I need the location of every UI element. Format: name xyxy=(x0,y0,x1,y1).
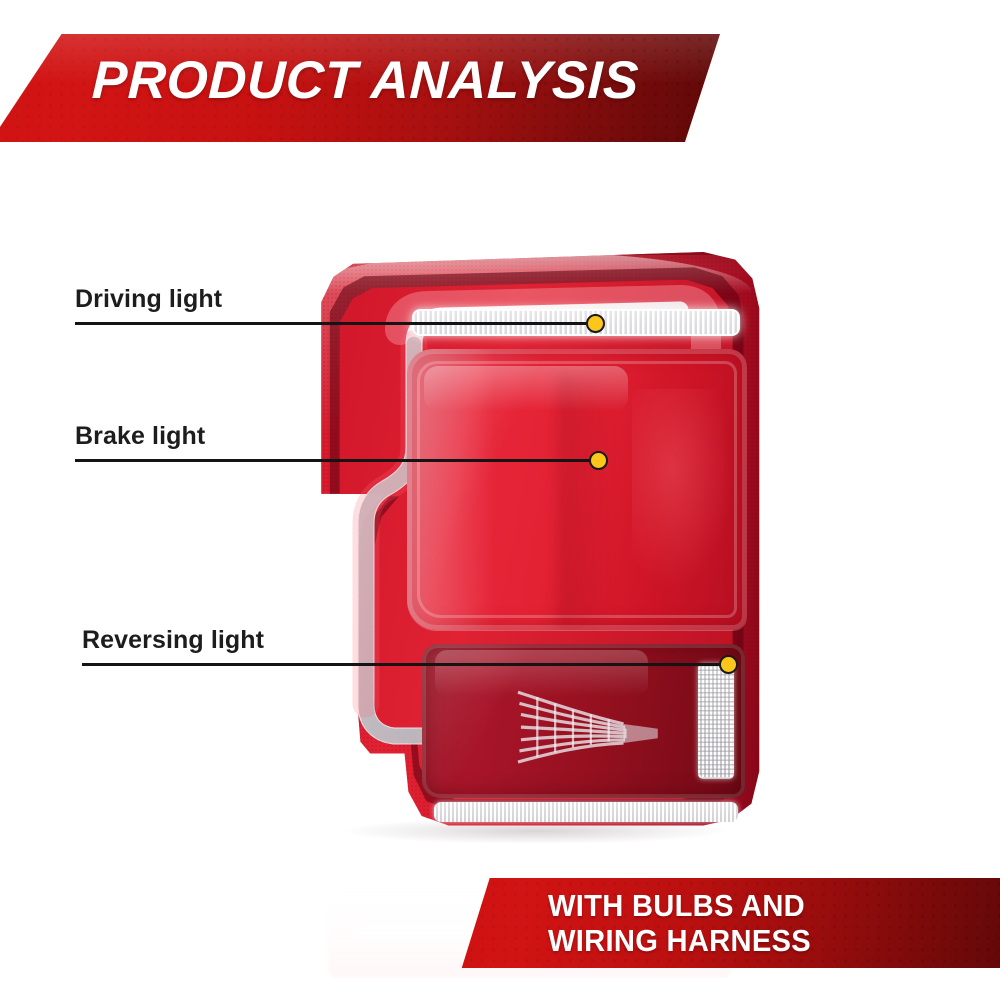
callout-reversing-light: Reversing light xyxy=(82,626,738,666)
page-title: PRODUCT ANALYSIS xyxy=(91,50,640,111)
callout-label-driving-light: Driving light xyxy=(75,285,222,314)
footer-line-2: WIRING HARNESS xyxy=(548,923,990,958)
callout-dot-yellow xyxy=(589,451,608,470)
tail-light-assembly xyxy=(282,252,772,842)
callout-label-brake-light: Brake light xyxy=(75,422,205,451)
product-analysis-image: PRODUCT ANALYSIS xyxy=(0,0,1000,1000)
bottom-clear-lens-strip xyxy=(434,802,738,822)
callout-leader-line xyxy=(75,322,596,326)
brake-panel-glow xyxy=(632,389,734,591)
callout-dot-yellow xyxy=(586,314,605,333)
callout-driving-light: Driving light xyxy=(75,285,605,325)
callout-label-reversing-light: Reversing light xyxy=(82,626,264,655)
callout-dot-yellow xyxy=(719,655,738,674)
footer-text: WITH BULBS AND WIRING HARNESS xyxy=(548,888,990,958)
reversing-light-panel xyxy=(422,644,745,797)
fan-reflector-mark xyxy=(512,678,661,773)
brake-light-panel xyxy=(407,349,748,629)
footer-line-1: WITH BULBS AND xyxy=(548,888,990,923)
ribbed-clear-lens-strip xyxy=(698,663,734,780)
brake-panel-highlight xyxy=(424,366,628,411)
callout-leader-line xyxy=(82,663,729,667)
callout-brake-light: Brake light xyxy=(75,422,608,462)
callout-leader-line xyxy=(75,459,599,463)
